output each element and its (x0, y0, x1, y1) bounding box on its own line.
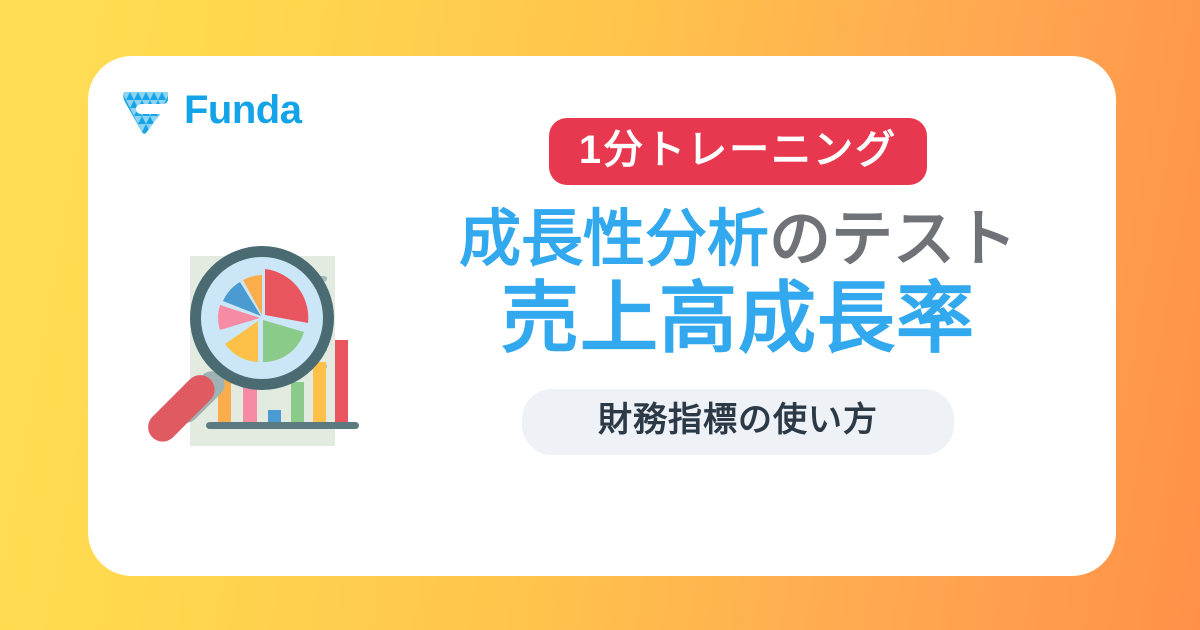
category-pill: 財務指標の使い方 (522, 389, 954, 455)
page-title: 成長性分析のテスト 売上高成長率 (459, 207, 1017, 359)
content-card: Funda (88, 56, 1116, 576)
title-muted: のテスト (769, 205, 1017, 274)
brand-name: Funda (184, 90, 301, 130)
magnifier-lens (190, 246, 334, 390)
headline-column: 1分トレーニング 成長性分析のテスト 売上高成長率 財務指標の使い方 (388, 118, 1088, 548)
training-badge: 1分トレーニング (549, 118, 927, 185)
brand-logo[interactable]: Funda (120, 84, 301, 136)
title-line-1: 成長性分析のテスト (459, 207, 1017, 273)
title-line-2: 売上高成長率 (459, 277, 1017, 360)
document-magnifier-analytics-illustration (128, 188, 428, 488)
funda-diamond-logo-icon (120, 84, 172, 136)
chart-baseline (206, 422, 359, 429)
title-highlight: 成長性分析 (459, 205, 769, 274)
